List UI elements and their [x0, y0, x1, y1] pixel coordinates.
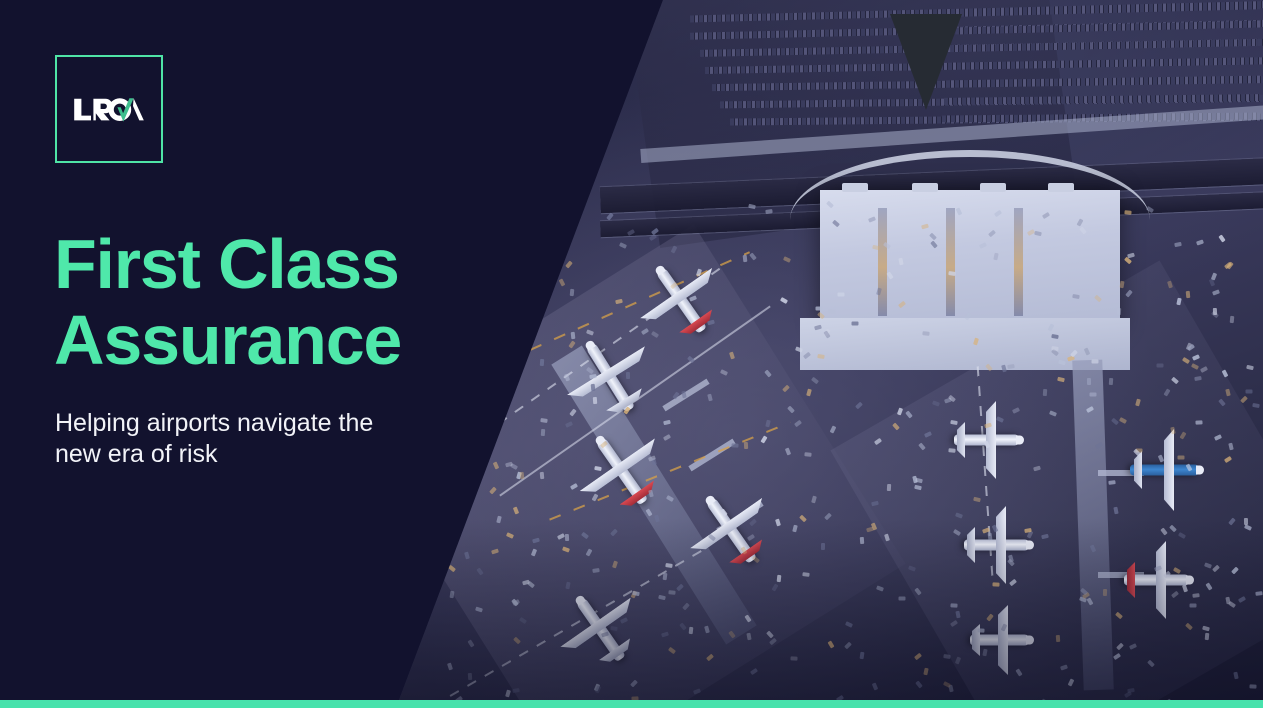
service-vehicle [520, 471, 525, 478]
service-vehicle [851, 321, 858, 325]
service-vehicle [1233, 671, 1238, 679]
service-vehicle [790, 656, 797, 660]
service-vehicle [570, 288, 575, 295]
service-vehicle [559, 278, 566, 286]
service-vehicle [1228, 443, 1233, 451]
service-vehicle [468, 639, 475, 647]
service-vehicle [830, 425, 837, 433]
slide-canvas: First Class Assurance Helping airports n… [0, 0, 1263, 708]
service-vehicle [626, 372, 630, 379]
service-vehicle [541, 429, 545, 436]
page-subtitle: Helping airports navigate the new era of… [55, 408, 395, 470]
service-vehicle [1056, 635, 1060, 642]
service-vehicle [590, 374, 597, 379]
service-vehicle [948, 271, 955, 276]
service-vehicle [1186, 291, 1191, 298]
service-vehicle [829, 309, 836, 314]
service-vehicle [540, 471, 545, 478]
service-vehicle [619, 242, 627, 249]
service-vehicle [447, 662, 453, 670]
service-vehicle [811, 377, 819, 384]
service-vehicle [955, 611, 960, 619]
service-vehicle [827, 641, 834, 649]
service-vehicle [815, 307, 822, 311]
service-vehicle [1245, 389, 1252, 393]
service-vehicle [783, 256, 791, 263]
service-vehicle [1119, 281, 1124, 289]
service-vehicle [899, 596, 906, 600]
service-vehicle [1212, 289, 1220, 295]
service-vehicle [1213, 308, 1217, 315]
service-vehicle [1052, 334, 1060, 339]
service-vehicle [744, 442, 748, 449]
service-vehicle [1189, 604, 1196, 608]
service-vehicle [845, 621, 853, 628]
service-vehicle [838, 293, 845, 297]
service-vehicle [505, 690, 511, 698]
service-vehicle [565, 534, 569, 541]
service-vehicle [565, 581, 570, 589]
service-vehicle [887, 484, 891, 491]
service-vehicle [1246, 365, 1254, 370]
service-vehicle [1177, 456, 1184, 460]
service-vehicle [1224, 262, 1232, 270]
logo-frame-icon [55, 55, 163, 163]
lrqa-logo-icon [73, 94, 145, 124]
service-vehicle [780, 297, 788, 304]
service-vehicle [820, 543, 824, 550]
service-vehicle [748, 203, 756, 209]
service-vehicle [468, 672, 472, 679]
accent-bar [0, 700, 1263, 708]
service-vehicle [1174, 242, 1182, 247]
service-vehicle [1196, 239, 1204, 245]
service-vehicle [1156, 363, 1163, 367]
median-grass-wedge [890, 14, 962, 110]
service-vehicle [1225, 389, 1230, 397]
service-vehicle [923, 668, 928, 676]
service-vehicle [668, 590, 675, 595]
service-vehicle [914, 653, 922, 661]
service-vehicle [565, 261, 573, 269]
service-vehicle [806, 388, 812, 396]
service-vehicle [845, 642, 853, 650]
service-vehicle [860, 651, 865, 658]
service-vehicle [750, 668, 758, 675]
service-vehicle [872, 683, 878, 691]
service-vehicle [606, 213, 614, 221]
service-vehicle [1240, 395, 1248, 403]
service-vehicle [743, 254, 748, 261]
service-vehicle [540, 359, 544, 366]
service-vehicle [1124, 210, 1131, 215]
service-vehicle [1051, 346, 1058, 351]
service-vehicle [1090, 392, 1097, 396]
terminal-building [820, 190, 1120, 330]
service-vehicle [765, 209, 772, 214]
service-vehicle [950, 603, 957, 607]
service-vehicle [1124, 257, 1132, 265]
service-vehicle [950, 419, 958, 424]
service-vehicle [1211, 273, 1217, 281]
service-vehicle [977, 628, 984, 632]
service-vehicle [1219, 235, 1226, 243]
service-vehicle [949, 448, 956, 453]
service-vehicle [1113, 507, 1118, 515]
service-vehicle [817, 354, 825, 359]
service-vehicle [1087, 378, 1091, 385]
service-vehicle [1249, 684, 1256, 688]
service-vehicle [1109, 378, 1113, 385]
service-vehicle [1244, 518, 1248, 525]
service-vehicle [1192, 593, 1199, 598]
service-vehicle [802, 572, 809, 577]
service-vehicle [915, 681, 923, 689]
service-vehicle [1102, 589, 1106, 596]
service-vehicle [855, 402, 863, 410]
service-vehicle [943, 654, 950, 659]
service-vehicle [805, 452, 812, 457]
service-vehicle [1230, 316, 1235, 323]
service-vehicle [1091, 360, 1098, 364]
service-vehicle [749, 253, 757, 261]
service-vehicle [665, 563, 673, 568]
page-title: First Class Assurance [54, 226, 474, 378]
service-vehicle [876, 586, 884, 592]
service-vehicle [1252, 403, 1260, 408]
service-vehicle [593, 397, 597, 404]
service-vehicle [992, 582, 999, 586]
service-vehicle [1116, 308, 1120, 315]
service-vehicle [872, 244, 880, 249]
service-vehicle [922, 331, 929, 336]
